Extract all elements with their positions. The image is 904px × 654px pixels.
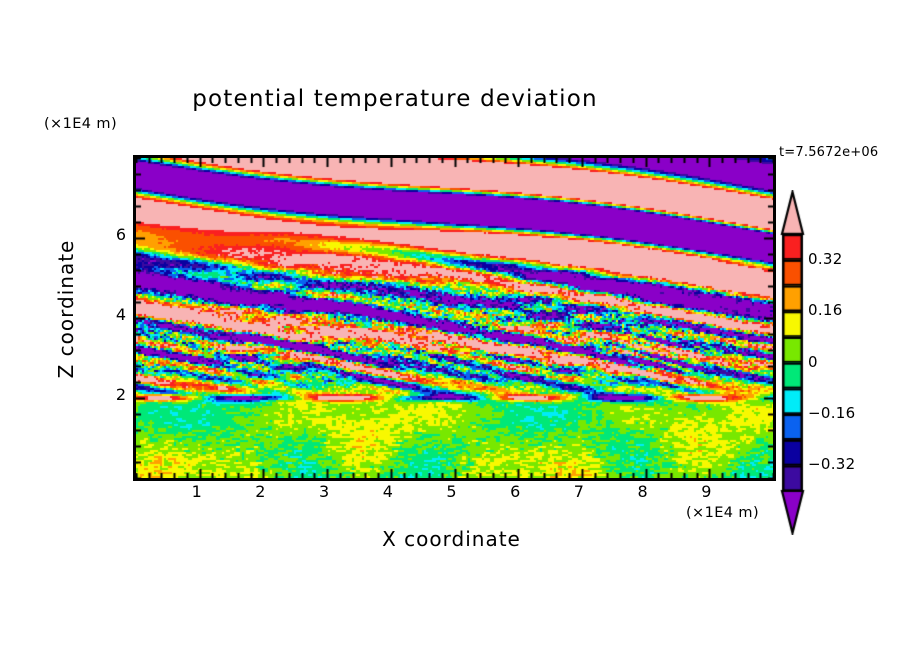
figure-canvas: potential temperature deviation (×1E4 m)… <box>0 0 904 654</box>
colorbar-tick-label: 0 <box>808 353 818 371</box>
x-axis-title: X coordinate <box>233 527 670 551</box>
colorbar-gradient <box>780 190 810 535</box>
z-axis-title: Z coordinate <box>54 209 78 409</box>
colorbar-tick-label: −0.16 <box>808 404 855 422</box>
x-tick-label: 9 <box>691 482 721 501</box>
time-stamp-annotation: t=7.5672e+06 <box>779 145 878 160</box>
x-tick-label: 2 <box>245 482 275 501</box>
page-title: potential temperature deviation <box>0 86 790 112</box>
z-tick-label: 6 <box>96 225 126 244</box>
x-tick-label: 7 <box>564 482 594 501</box>
x-tick-label: 8 <box>628 482 658 501</box>
colorbar-tick-label: 0.16 <box>808 301 843 319</box>
z-axis-units-label: (×1E4 m) <box>44 116 117 132</box>
x-tick-label: 1 <box>182 482 212 501</box>
plot-area <box>133 155 776 481</box>
x-tick-label: 5 <box>437 482 467 501</box>
contour-field-canvas <box>136 158 773 478</box>
colorbar-tick-label: −0.32 <box>808 455 855 473</box>
x-tick-label: 6 <box>500 482 530 501</box>
colorbar: 0.320.160−0.16−0.32 <box>780 190 900 535</box>
z-tick-label: 4 <box>96 305 126 324</box>
colorbar-tick-label: 0.32 <box>808 250 843 268</box>
z-tick-label: 2 <box>96 385 126 404</box>
x-tick-label: 3 <box>309 482 339 501</box>
x-tick-label: 4 <box>373 482 403 501</box>
x-axis-units-label: (×1E4 m) <box>686 505 759 521</box>
